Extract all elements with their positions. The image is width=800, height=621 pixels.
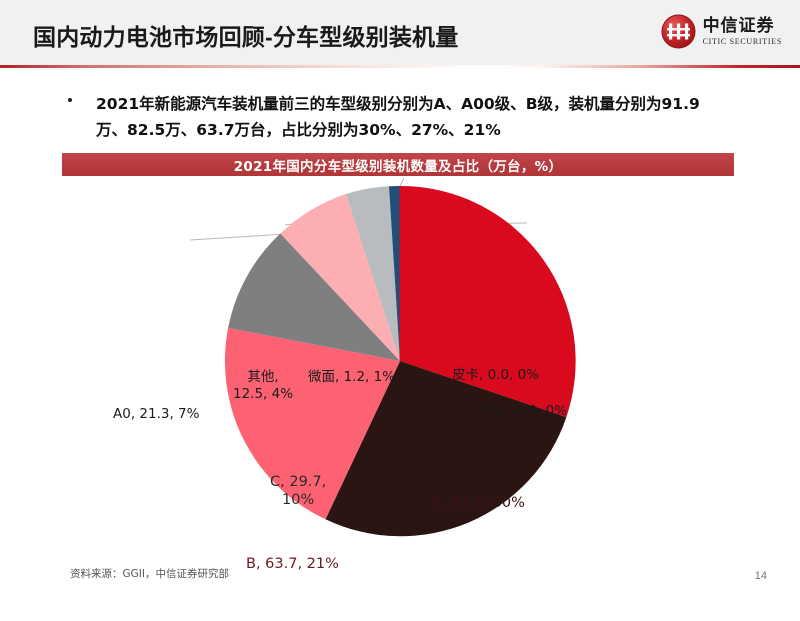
page-number: 14 xyxy=(755,570,767,582)
pie-label-paoche: 跑车, 0.0, 0% xyxy=(480,403,567,420)
slide-header: 国内动力电池市场回顾-分车型级别装机量 xyxy=(0,0,800,65)
source-note: 资料来源：GGII，中信证券研究部 xyxy=(70,566,229,581)
pie-label-c-line1: C, 29.7, xyxy=(270,474,326,490)
bullet-text: 2021年新能源汽车装机量前三的车型级别分别为A、A00级、B级，装机量分别为9… xyxy=(96,92,728,143)
pie-label-a: A, 91.9, 30% xyxy=(432,494,525,512)
chart-title-text: 2021年国内分车型级别装机数量及占比（万台，%） xyxy=(234,155,563,175)
bullet-block: 2021年新能源汽车装机量前三的车型级别分别为A、A00级、B级，装机量分别为9… xyxy=(68,92,728,143)
logo-text-en: CITIC SECURITIES xyxy=(703,38,782,46)
pie-label-other: 其他, 12.5, 4% xyxy=(233,369,293,403)
pie-chart-svg xyxy=(0,176,800,551)
pie-label-c-line2: 10% xyxy=(282,492,314,508)
logo-text-cn: 中信证券 xyxy=(703,18,775,35)
bullet-dot-icon xyxy=(68,98,72,102)
chart-title-bar: 2021年国内分车型级别装机数量及占比（万台，%） xyxy=(62,153,734,176)
pie-chart: A, 91.9, 30% A00, 82.5, 27% B, 63.7, 21%… xyxy=(0,176,800,551)
page-title: 国内动力电池市场回顾-分车型级别装机量 xyxy=(33,18,458,52)
pie-label-a00: A00, 82.5, 27% xyxy=(393,603,504,621)
pie-label-weimian: 微面, 1.2, 1% xyxy=(308,369,395,386)
pie-label-other-line1: 其他, xyxy=(247,369,278,385)
brand-logo: 中信证券 CITIC SECURITIES xyxy=(661,14,782,49)
citic-logo-icon xyxy=(661,14,696,49)
pie-label-other-line2: 12.5, 4% xyxy=(233,386,293,402)
pie-label-b: B, 63.7, 21% xyxy=(246,555,339,573)
pie-label-c: C, 29.7, 10% xyxy=(270,473,326,509)
pie-label-pika: 皮卡, 0.0, 0% xyxy=(452,367,539,384)
header-divider xyxy=(0,65,800,68)
pie-label-a0: A0, 21.3, 7% xyxy=(113,406,199,423)
